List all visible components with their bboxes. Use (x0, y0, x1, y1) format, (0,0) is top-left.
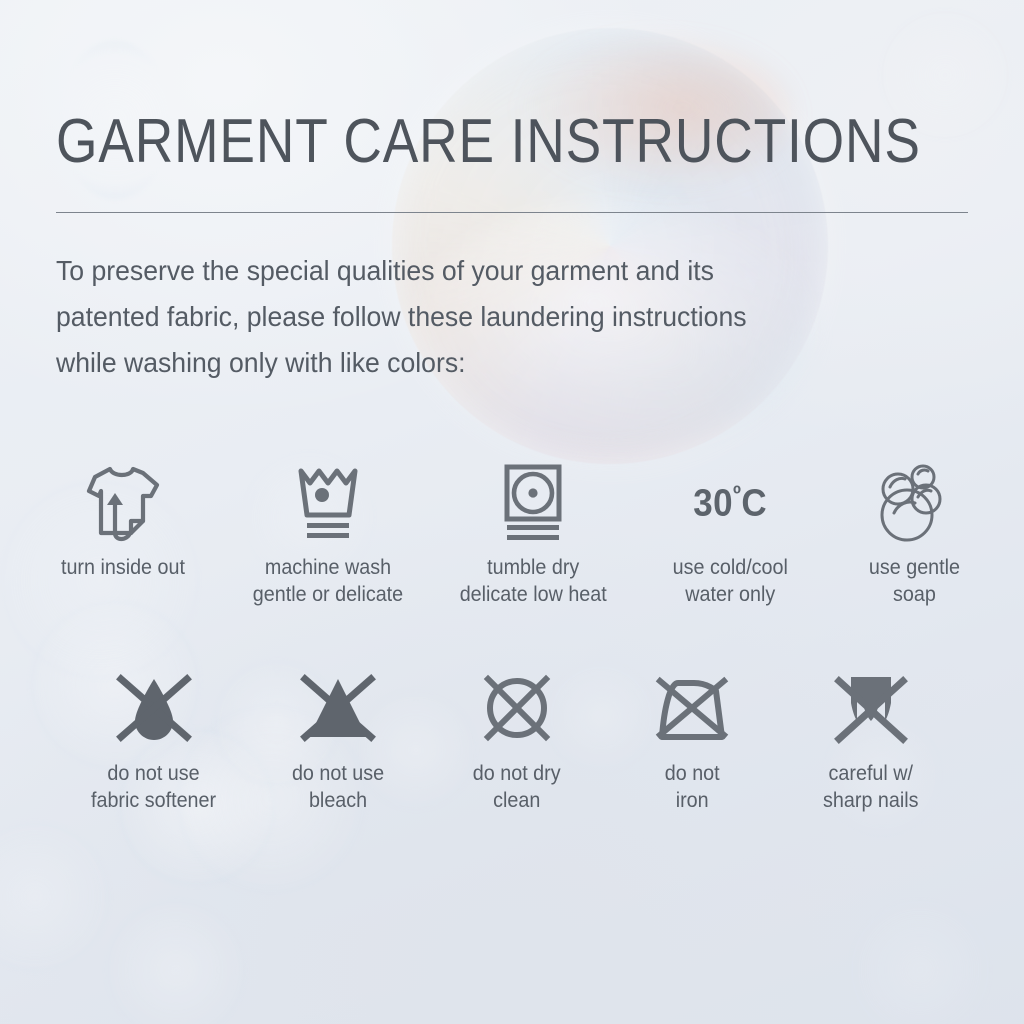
care-caption: do not iron (665, 760, 720, 814)
care-caption: careful w/ sharp nails (823, 760, 918, 814)
care-caption: use cold/cool water only (673, 554, 788, 608)
caption-line: water only (673, 581, 788, 608)
intro-paragraph: To preserve the special qualities of you… (56, 248, 892, 386)
caption-line: turn inside out (61, 554, 185, 581)
caption-line: gentle or delicate (253, 581, 403, 608)
care-caption: use gentle soap (869, 554, 960, 608)
care-caption: machine wash gentle or delicate (253, 554, 403, 608)
caption-line: do not use (292, 760, 384, 787)
care-caption: turn inside out (61, 554, 185, 581)
temperature-label: 30ºC (694, 481, 768, 526)
care-caption: do not dry clean (473, 760, 561, 814)
caption-line: do not use (91, 760, 216, 787)
intro-line: To preserve the special qualities of you… (56, 248, 892, 294)
care-item-no-dry-clean: do not dry clean (428, 668, 606, 814)
temperature-30c-icon: 30ºC (690, 462, 770, 544)
page-title: GARMENT CARE INSTRUCTIONS (56, 104, 840, 180)
allowed-care-row: turn inside out machine wash gentle or d… (0, 462, 1024, 608)
no-fabric-softener-icon (111, 668, 197, 750)
intro-line: patented fabric, please follow these lau… (56, 294, 892, 340)
caption-line: iron (665, 787, 720, 814)
caption-line: sharp nails (823, 787, 918, 814)
no-bleach-icon (295, 668, 381, 750)
care-item-turn-inside-out: turn inside out (21, 462, 226, 608)
caption-line: use cold/cool (673, 554, 788, 581)
careful-sharp-nails-icon (829, 668, 913, 750)
care-item-careful-sharp-nails: careful w/ sharp nails (778, 668, 964, 814)
prohibited-care-row: do not use fabric softener do n (0, 668, 1024, 814)
caption-line: clean (473, 787, 561, 814)
care-item-no-fabric-softener: do not use fabric softener (60, 668, 248, 814)
care-caption: do not use bleach (292, 760, 384, 814)
care-caption: do not use fabric softener (91, 760, 216, 814)
tumble-dry-low-heat-icon (501, 462, 565, 544)
no-dry-clean-icon (477, 668, 557, 750)
caption-line: fabric softener (91, 787, 216, 814)
care-item-no-iron: do not iron (606, 668, 778, 814)
caption-line: tumble dry (459, 554, 606, 581)
care-item-gentle-soap: use gentle soap (826, 462, 1004, 608)
caption-line: machine wash (253, 554, 403, 581)
caption-line: use gentle (869, 554, 960, 581)
temperature-value: 30 (694, 482, 734, 524)
care-item-tumble-dry: tumble dry delicate low heat (431, 462, 636, 608)
care-item-machine-wash: machine wash gentle or delicate (226, 462, 431, 608)
caption-line: careful w/ (823, 760, 918, 787)
caption-line: delicate low heat (459, 581, 606, 608)
caption-line: soap (869, 581, 960, 608)
turn-inside-out-tshirt-icon (85, 462, 161, 544)
title-divider (56, 212, 968, 213)
caption-line: do not (665, 760, 720, 787)
garment-care-poster: GARMENT CARE INSTRUCTIONS To preserve th… (0, 0, 1024, 1024)
no-iron-icon (650, 668, 734, 750)
intro-line: while washing only with like colors: (56, 340, 892, 386)
care-item-no-bleach: do not use bleach (248, 668, 428, 814)
gentle-soap-bubbles-icon (878, 462, 952, 544)
temperature-scale: C (742, 482, 768, 524)
caption-line: do not dry (473, 760, 561, 787)
care-caption: tumble dry delicate low heat (459, 554, 606, 608)
machine-wash-delicate-icon (293, 462, 363, 544)
care-item-water-temperature: 30ºC use cold/cool water only (636, 462, 826, 608)
caption-line: bleach (292, 787, 384, 814)
